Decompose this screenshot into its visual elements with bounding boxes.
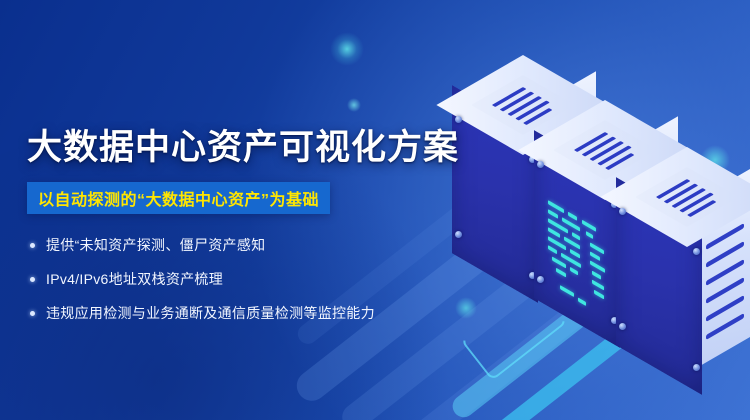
rack-screw-icon [619, 208, 626, 215]
list-item-label: 违规应用检测与业务通断及通信质量检测等监控能力 [46, 304, 375, 323]
rack-screw-icon [537, 276, 544, 283]
list-item: 违规应用检测与业务通断及通信质量检测等监控能力 [30, 304, 375, 323]
rack-screw-icon [693, 248, 700, 255]
bullet-dot-icon [30, 243, 35, 248]
text-content: 大数据中心资产可视化方案 以自动探测的“大数据中心资产”为基础 提供“未知资产探… [0, 0, 460, 420]
rack-side-vents [706, 228, 750, 346]
rack-screw-icon [619, 323, 626, 330]
rack-screw-icon [537, 161, 544, 168]
bullet-dot-icon [30, 277, 35, 282]
rack-screw-icon [693, 364, 700, 371]
banner: 大数据中心资产可视化方案 以自动探测的“大数据中心资产”为基础 提供“未知资产探… [0, 0, 750, 420]
list-item-label: 提供“未知资产探测、僵尸资产感知 [46, 236, 265, 255]
page-title: 大数据中心资产可视化方案 [27, 126, 459, 170]
list-item: IPv4/IPv6地址双栈资产梳理 [30, 270, 375, 289]
list-item-label: IPv4/IPv6地址双栈资产梳理 [46, 270, 223, 289]
rack-top-panel [635, 167, 739, 227]
bullet-dot-icon [30, 311, 35, 316]
tagline-bar: 以自动探测的“大数据中心资产”为基础 [27, 182, 330, 214]
list-item: 提供“未知资产探测、僵尸资产感知 [30, 236, 375, 255]
server-rack-illustration [430, 50, 750, 400]
rack-top-panel [553, 120, 657, 180]
feature-bullet-list: 提供“未知资产探测、僵尸资产感知 IPv4/IPv6地址双栈资产梳理 违规应用检… [30, 236, 375, 338]
tagline-text: 以自动探测的“大数据中心资产”为基础 [38, 186, 319, 210]
